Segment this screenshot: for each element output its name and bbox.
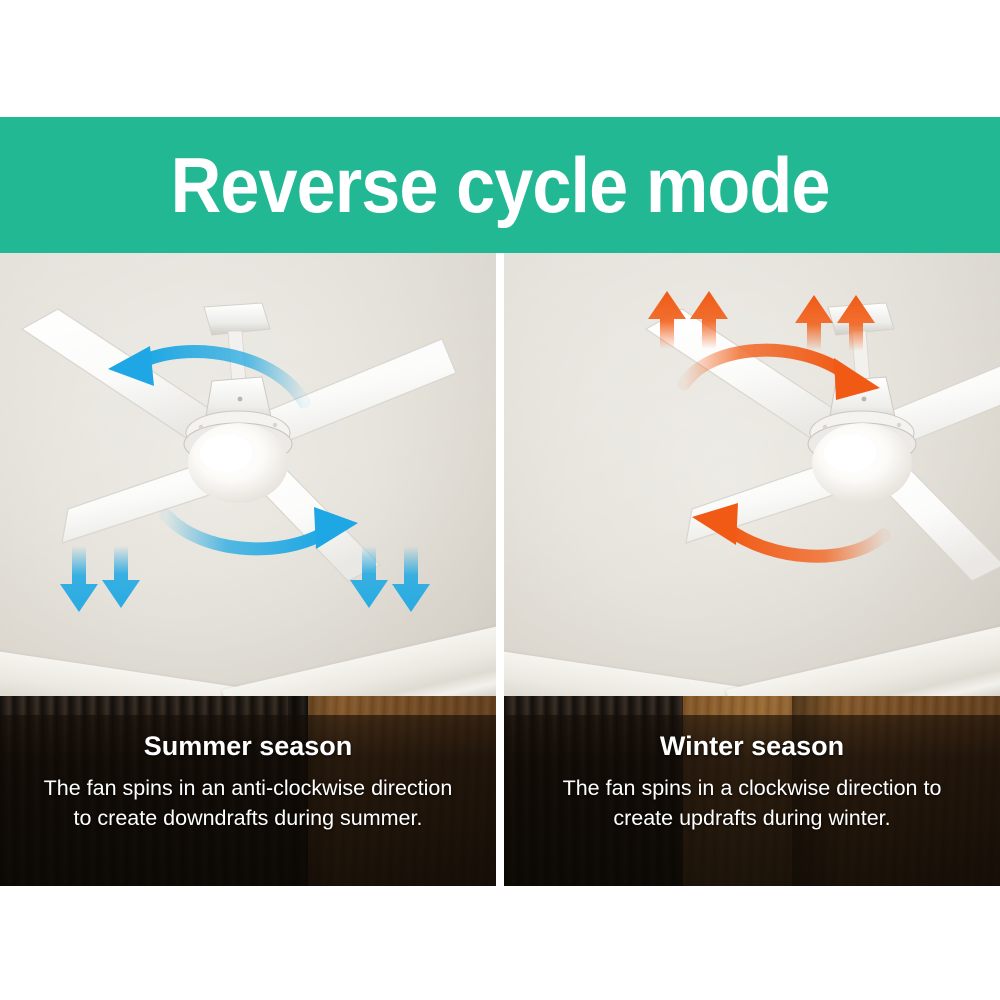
room-scene-winter: Winter season The fan spins in a clockwi… xyxy=(504,253,1000,886)
downdraft-arrows-right-icon xyxy=(348,546,458,616)
caption-title-summer: Summer season xyxy=(144,731,353,762)
caption-body-summer: The fan spins in an anti-clockwise direc… xyxy=(33,773,463,833)
curved-arrow-left-icon xyxy=(672,471,952,581)
caption-body-winter: The fan spins in a clockwise direction t… xyxy=(537,773,967,833)
bottom-margin xyxy=(0,886,1000,1000)
header-banner: Reverse cycle mode xyxy=(0,117,1000,253)
panel-winter: Winter season The fan spins in a clockwi… xyxy=(504,253,1000,886)
panel-divider xyxy=(496,253,504,886)
caption-summer: Summer season The fan spins in an anti-c… xyxy=(0,715,496,886)
panel-summer: Summer season The fan spins in an anti-c… xyxy=(0,253,496,886)
curved-arrow-left-icon xyxy=(46,338,316,448)
caption-winter: Winter season The fan spins in a clockwi… xyxy=(504,715,1000,886)
caption-title-winter: Winter season xyxy=(660,731,844,762)
product-infographic: Reverse cycle mode xyxy=(0,0,1000,1000)
panels-container: Summer season The fan spins in an anti-c… xyxy=(0,253,1000,886)
curved-arrow-right-icon xyxy=(674,338,954,458)
top-margin xyxy=(0,0,1000,117)
downdraft-arrows-left-icon xyxy=(58,546,168,616)
room-scene-summer: Summer season The fan spins in an anti-c… xyxy=(0,253,496,886)
page-title: Reverse cycle mode xyxy=(171,146,830,224)
